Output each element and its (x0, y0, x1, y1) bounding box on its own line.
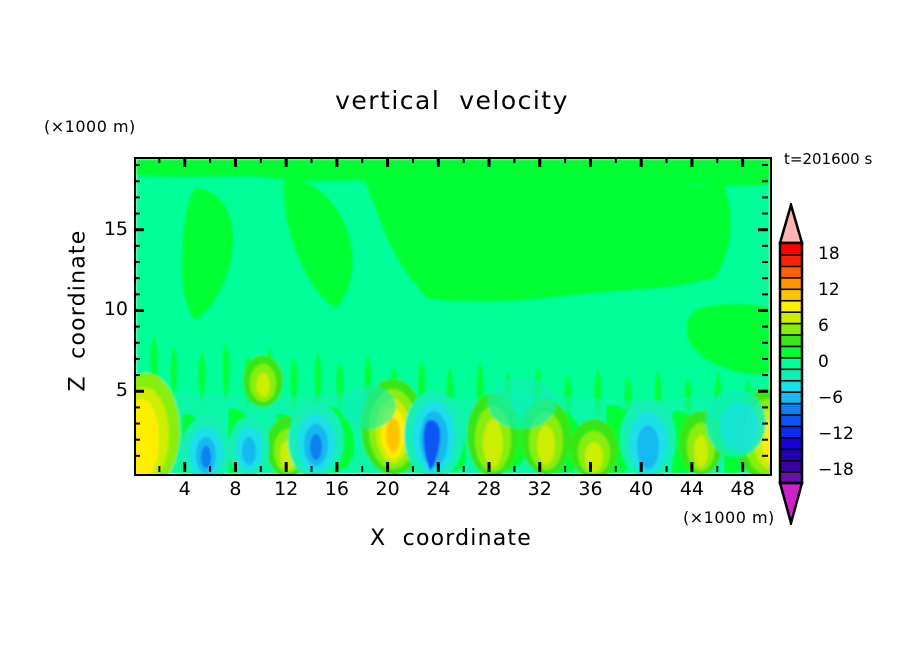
x-tick-label: 8 (215, 478, 255, 500)
colorbar-tick-label: −18 (818, 460, 854, 480)
downdraft-x46 (706, 389, 766, 457)
x-tick-label: 4 (165, 478, 205, 500)
x-tick-label: 44 (672, 478, 712, 500)
colorbar (776, 203, 816, 525)
colorbar-tick-label: 0 (818, 352, 829, 372)
y-tick-label: 5 (94, 379, 128, 401)
colorbar-tick-label: 6 (818, 316, 829, 336)
x-axis-units-label: (×1000 m) (683, 508, 775, 527)
time-stamp-label: t=201600 s (784, 150, 872, 168)
contour-plot-area (134, 157, 772, 476)
colorbar-tick-label: −12 (818, 424, 854, 444)
x-axis-title: X coordinate (134, 526, 768, 551)
colorbar-tick-label: 18 (818, 244, 840, 264)
page-title: vertical velocity (0, 86, 904, 115)
contour-field (136, 159, 770, 474)
colorbar-swatches (776, 203, 816, 525)
y-tick-label: 15 (94, 218, 128, 240)
colorbar-tick-label: −6 (818, 388, 843, 408)
z-axis-units-label: (×1000 m) (44, 117, 136, 136)
x-tick-label: 32 (520, 478, 560, 500)
x-tick-label: 16 (317, 478, 357, 500)
x-tick-label: 28 (469, 478, 509, 500)
cool-patch-x18 (340, 385, 396, 429)
x-tick-label: 20 (368, 478, 408, 500)
y-tick-label: 10 (94, 298, 128, 320)
updraft-x10 (243, 355, 283, 407)
x-tick-label: 36 (570, 478, 610, 500)
y-axis-title: Z coordinate (66, 211, 91, 411)
x-tick-label: 24 (418, 478, 458, 500)
x-tick-label: 40 (621, 478, 661, 500)
x-tick-label: 48 (723, 478, 763, 500)
x-tick-label: 12 (266, 478, 306, 500)
colorbar-tick-label: 12 (818, 280, 840, 300)
cool-patch-x30 (488, 377, 556, 429)
